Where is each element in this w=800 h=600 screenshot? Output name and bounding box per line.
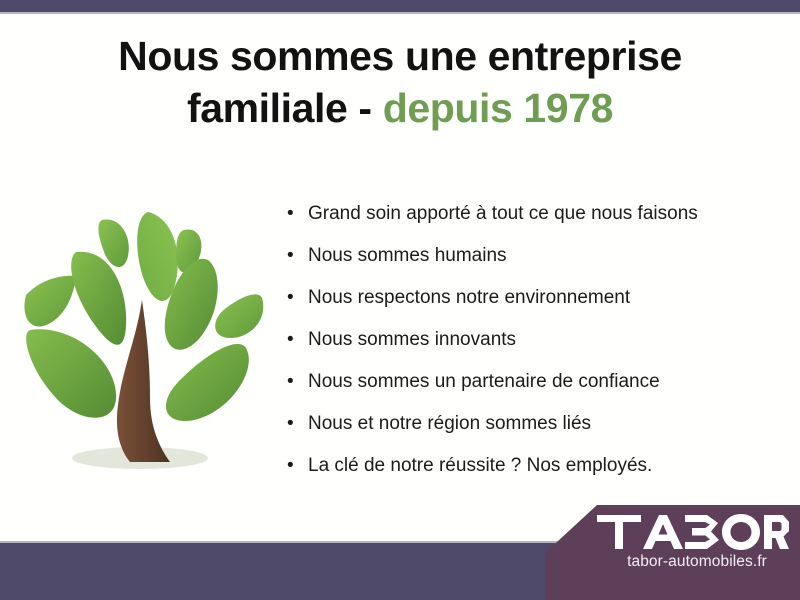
list-item-label: Nous sommes innovants xyxy=(308,329,516,350)
tree-leaf xyxy=(166,344,249,421)
list-item-label: Nous sommes humains xyxy=(308,245,507,266)
list-item-label: La clé de notre réussite ? Nos employés. xyxy=(308,455,652,476)
list-item-label: Nous et notre région sommes liés xyxy=(308,413,591,434)
tree-leaf xyxy=(215,294,263,338)
bullet-marker-icon: • xyxy=(287,193,294,235)
list-item: • Nous sommes un partenaire de confiance xyxy=(286,361,756,403)
title-line-1: Nous sommes une entreprise xyxy=(60,30,740,82)
logo-tagline: tabor-automobiles.fr xyxy=(597,553,797,571)
list-item: • Nous sommes innovants xyxy=(286,319,756,361)
top-frame-hairline xyxy=(0,12,800,14)
tree-leaf xyxy=(24,276,76,327)
bullet-marker-icon: • xyxy=(287,235,294,277)
list-item-label: Nous respectons notre environnement xyxy=(308,287,630,308)
tree-leaf xyxy=(137,212,178,301)
bullet-marker-icon: • xyxy=(287,277,294,319)
logo-text-group: tabor-automobiles.fr xyxy=(597,511,797,571)
bullet-marker-icon: • xyxy=(287,403,294,445)
title-plain-part: familiale - xyxy=(187,85,372,131)
list-item: • La clé de notre réussite ? Nos employé… xyxy=(286,445,756,487)
bullet-marker-icon: • xyxy=(287,361,294,403)
list-item: • Grand soin apporté à tout ce que nous … xyxy=(286,193,756,235)
tree-leaf xyxy=(26,329,116,417)
top-frame-bar xyxy=(0,0,800,12)
list-item: • Nous sommes humains xyxy=(286,235,756,277)
tree-icon xyxy=(18,190,270,490)
bullet-marker-icon: • xyxy=(287,445,294,487)
tabor-wordmark-icon xyxy=(597,511,789,551)
value-bullet-list: • Grand soin apporté à tout ce que nous … xyxy=(286,193,756,487)
brand-logo-panel[interactable]: tabor-automobiles.fr xyxy=(535,505,800,600)
list-item: • Nous respectons notre environnement xyxy=(286,277,756,319)
title-accent-part: depuis 1978 xyxy=(383,85,613,131)
list-item-label: Nous sommes un partenaire de confiance xyxy=(308,371,660,392)
slide-canvas: Nous sommes une entreprise familiale - d… xyxy=(0,0,800,600)
title-line-2: familiale - depuis 1978 xyxy=(60,82,740,134)
slide-title: Nous sommes une entreprise familiale - d… xyxy=(60,30,740,134)
list-item-label: Grand soin apporté à tout ce que nous fa… xyxy=(308,203,698,224)
bullet-marker-icon: • xyxy=(287,319,294,361)
list-item: • Nous et notre région sommes liés xyxy=(286,403,756,445)
tree-illustration xyxy=(18,190,270,490)
